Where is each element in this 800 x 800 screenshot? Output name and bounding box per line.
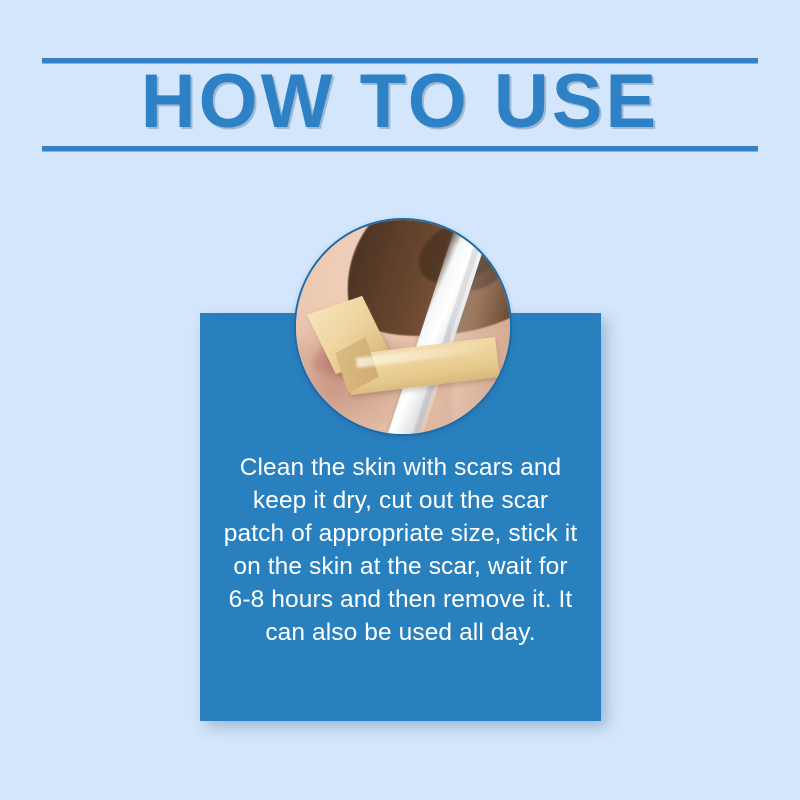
photo-image — [296, 220, 510, 434]
divider-line-bottom — [42, 146, 758, 151]
how-to-use-poster: HOW TO USE Clean the skin with scars and… — [0, 0, 800, 800]
instructions-text: Clean the skin with scars and keep it dr… — [222, 451, 579, 649]
scar-patch-photo — [294, 218, 512, 436]
shoulder-highlight — [452, 244, 512, 424]
page-title: HOW TO USE — [0, 57, 800, 147]
header: HOW TO USE — [0, 0, 800, 200]
